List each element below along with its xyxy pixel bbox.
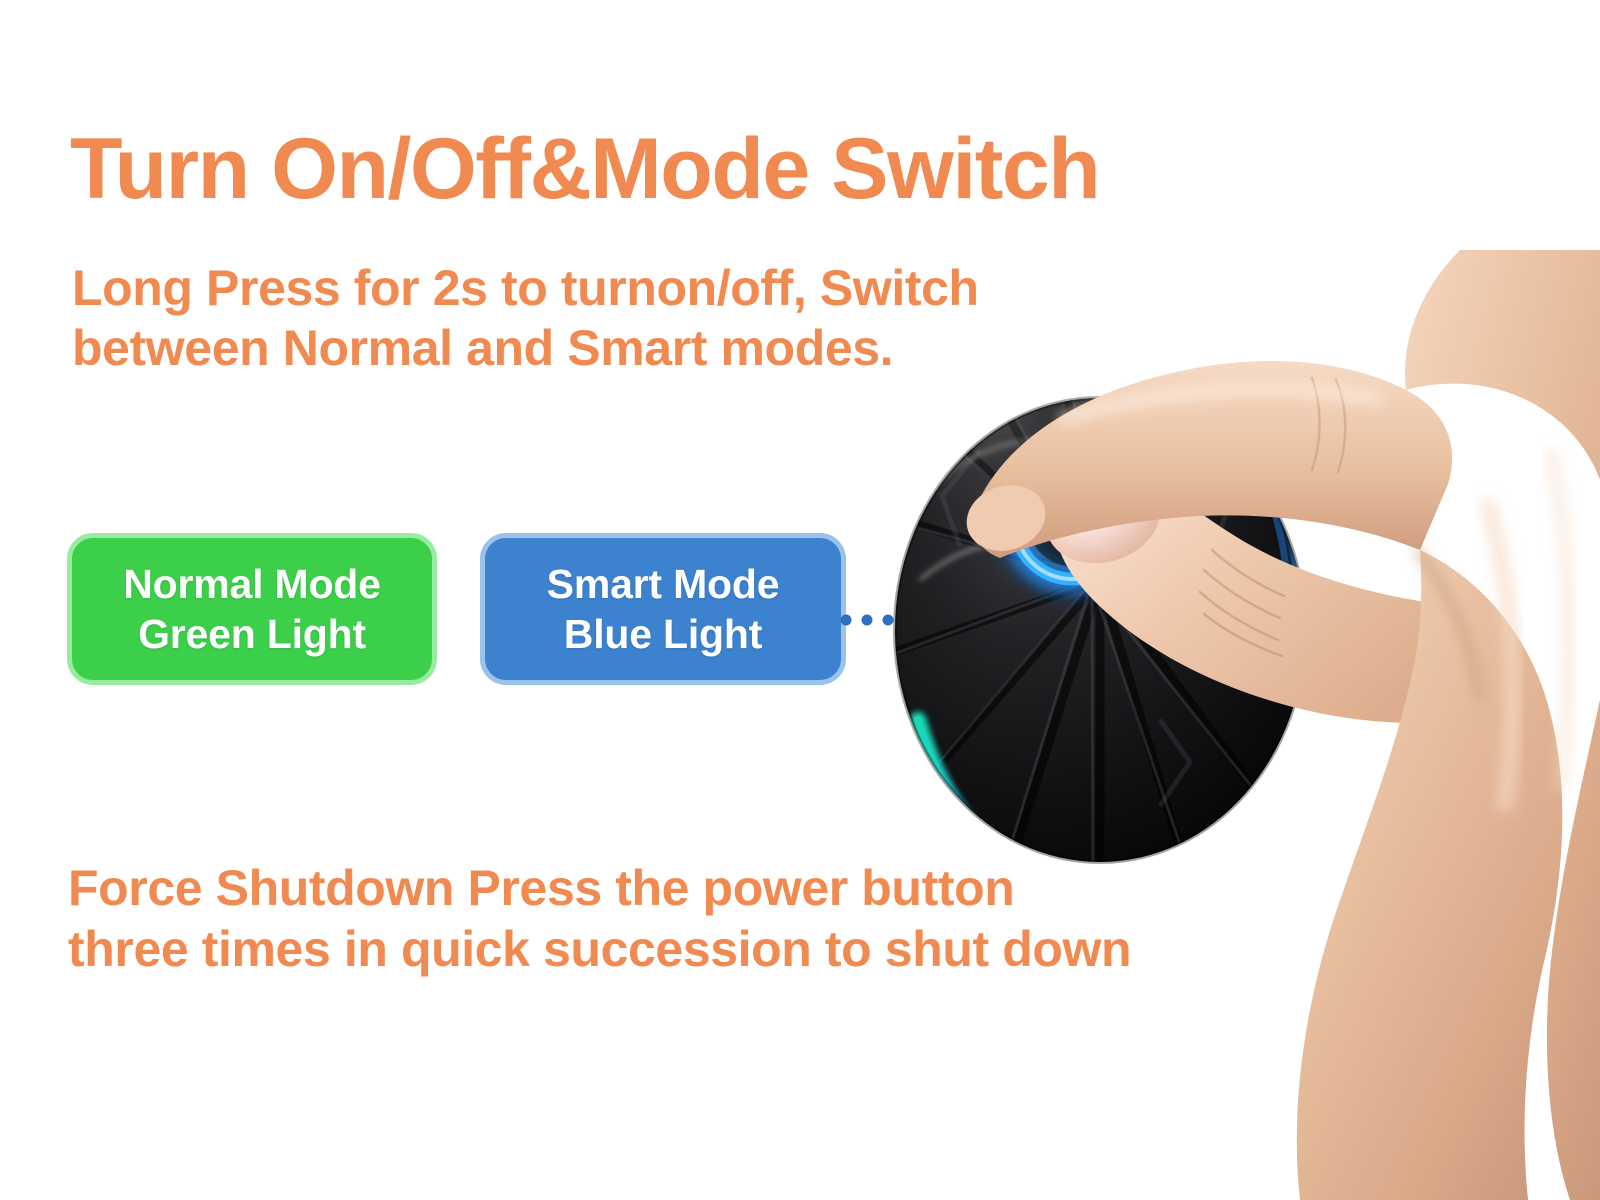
device-illustration xyxy=(860,250,1600,1200)
force-shutdown-line-2: three times in quick succession to shut … xyxy=(68,919,1158,980)
badge-normal-mode[interactable]: Normal Mode Green Light xyxy=(67,533,437,685)
badge-normal-mode-line-1: Normal Mode xyxy=(123,559,381,609)
force-shutdown-note: Force Shutdown Press the power button th… xyxy=(68,858,1158,980)
subtitle-line-1: Long Press for 2s to turnon/off, Switch xyxy=(72,260,979,316)
page-title: Turn On/Off&Mode Switch xyxy=(70,126,1099,212)
force-shutdown-line-1: Force Shutdown Press the power button xyxy=(68,860,1014,916)
badge-smart-mode-line-1: Smart Mode xyxy=(547,559,780,609)
infographic-page: Turn On/Off&Mode Switch Long Press for 2… xyxy=(0,0,1600,1200)
badge-smart-mode[interactable]: Smart Mode Blue Light xyxy=(480,533,846,685)
badge-smart-mode-line-2: Blue Light xyxy=(564,609,762,659)
badge-normal-mode-line-2: Green Light xyxy=(138,609,366,659)
